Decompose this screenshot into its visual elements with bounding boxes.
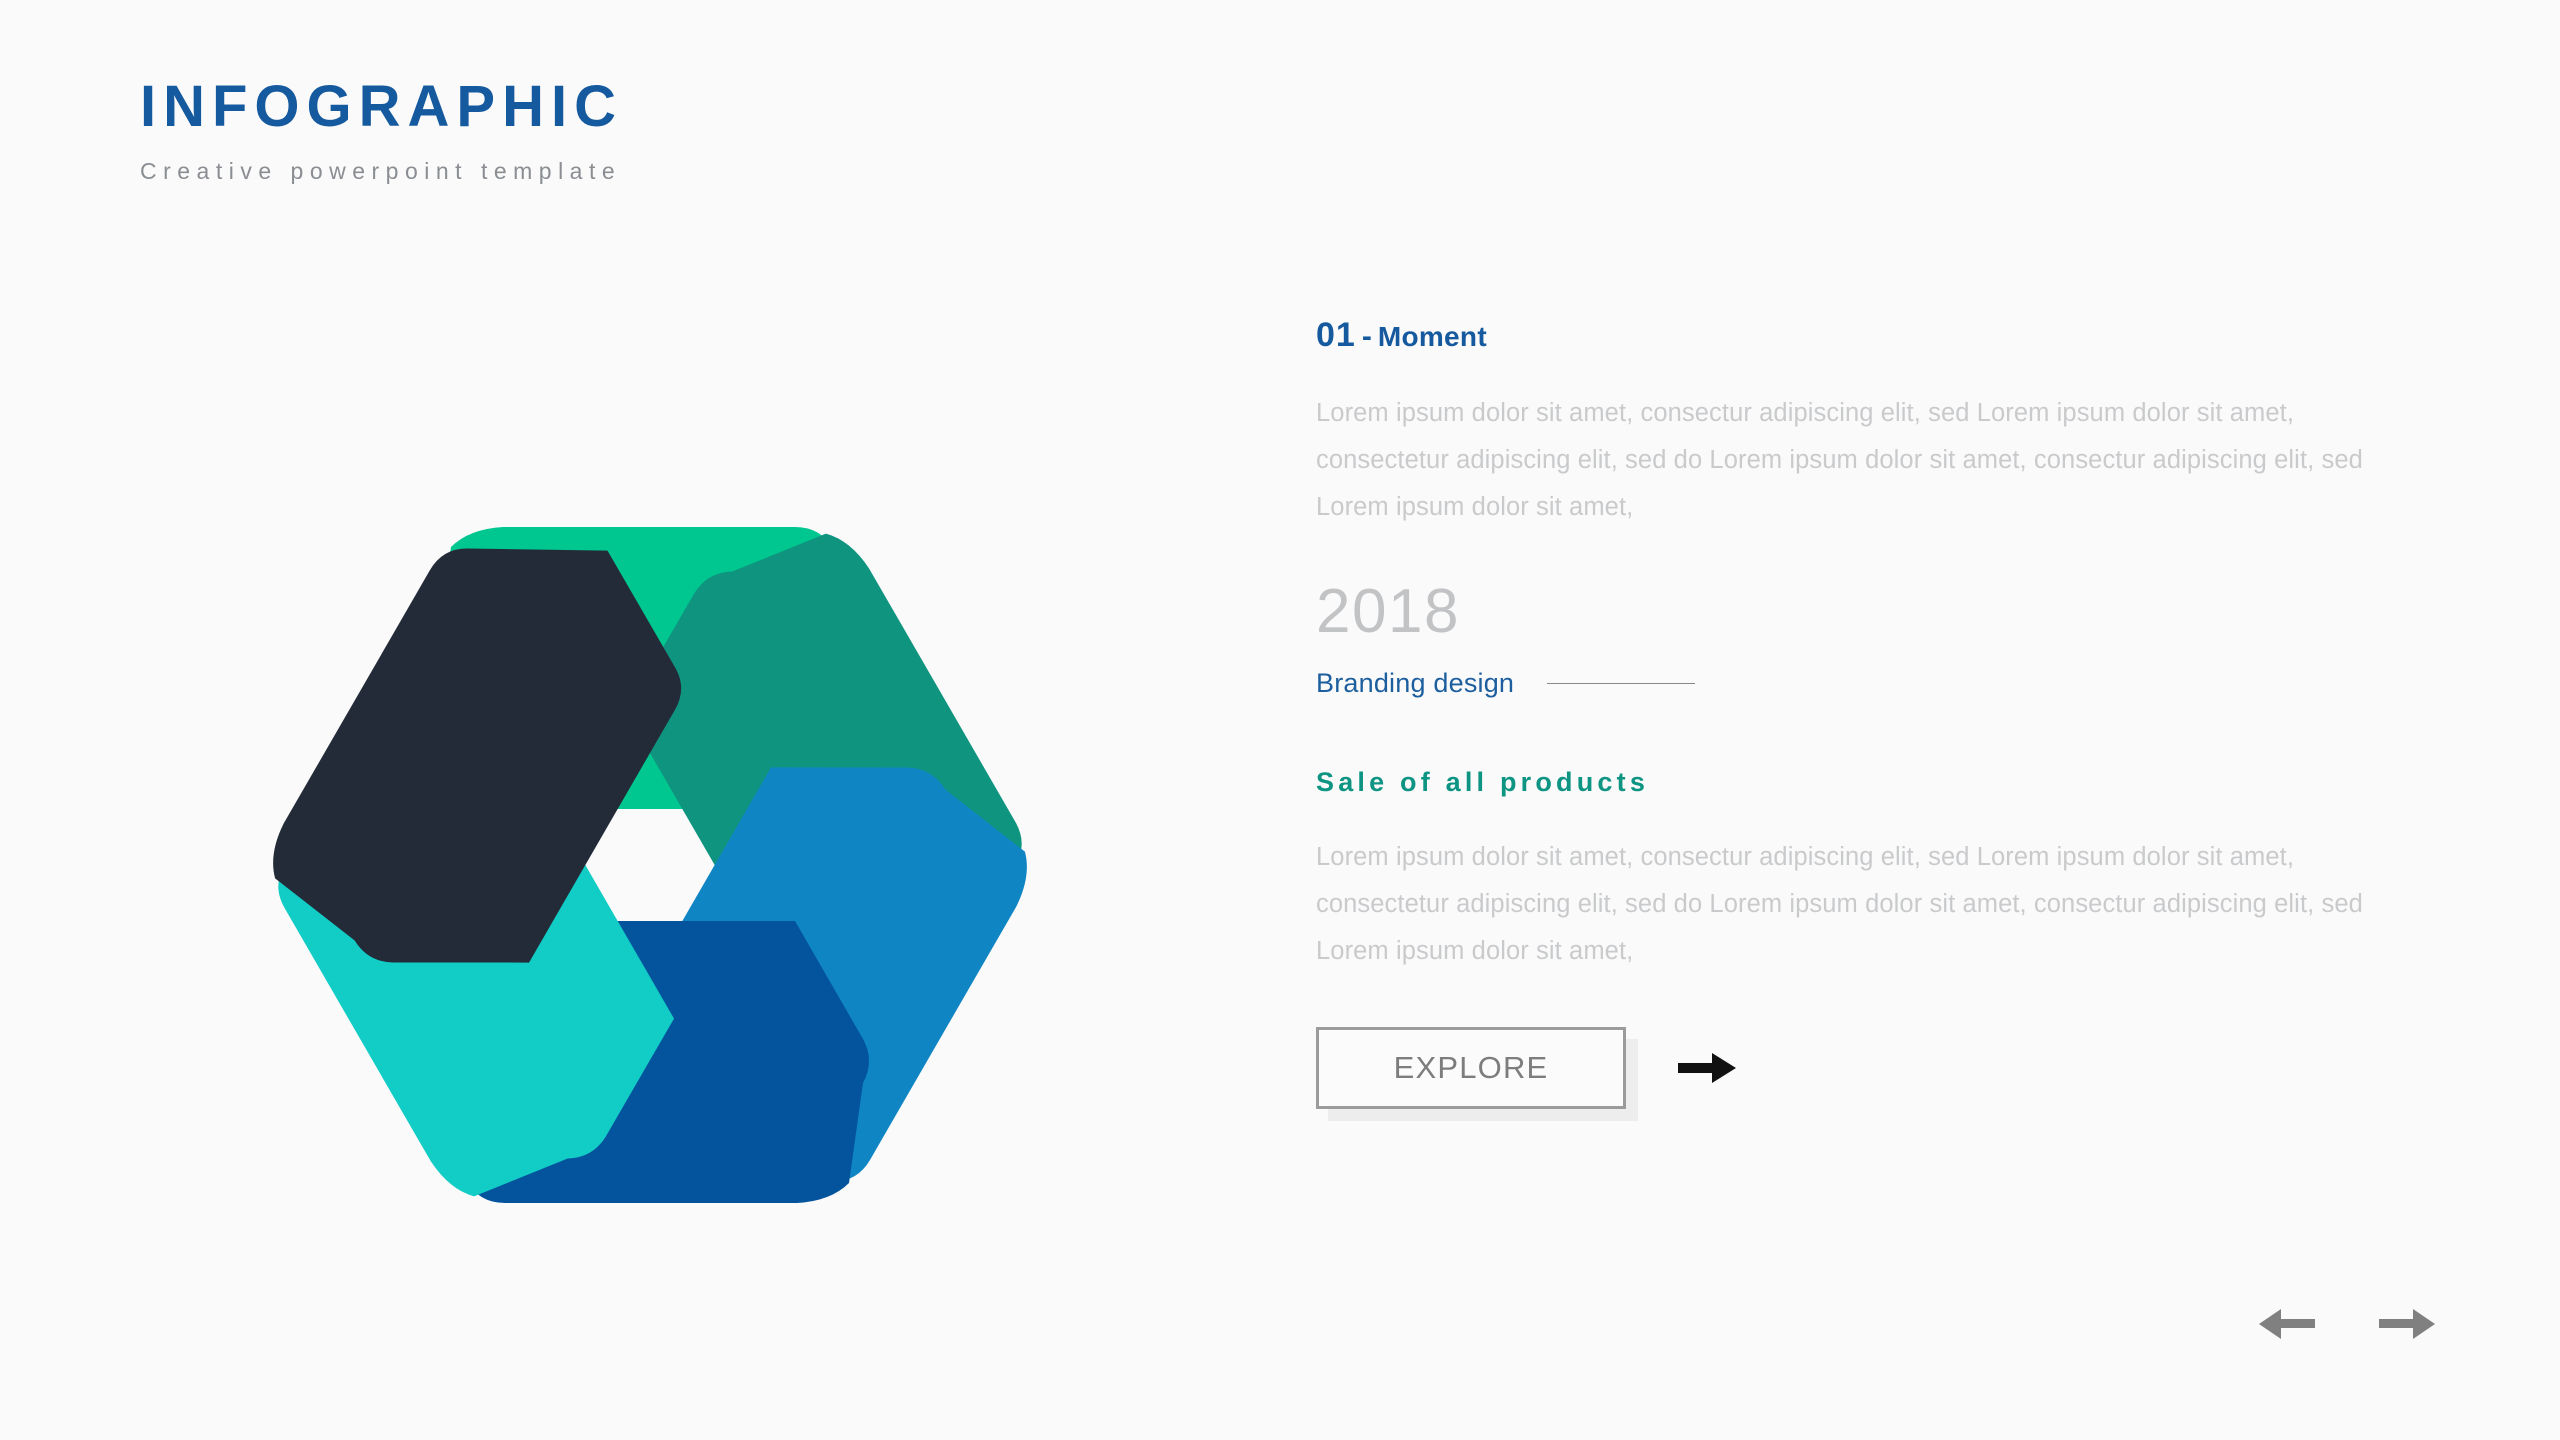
- content-column: 01-Moment Lorem ipsum dolor sit amet, co…: [1316, 318, 2426, 1109]
- branding-row: Branding design: [1316, 668, 2426, 699]
- year-value: 2018: [1316, 581, 2426, 643]
- arrow-right-icon[interactable]: [2379, 1308, 2435, 1340]
- slide-navigation: [2259, 1308, 2435, 1340]
- sale-heading: Sale of all products: [1316, 767, 2426, 798]
- page-title: INFOGRAPHIC: [140, 78, 623, 136]
- step-label: Moment: [1378, 321, 1487, 352]
- explore-button[interactable]: EXPLORE: [1316, 1027, 1626, 1109]
- arrow-right-icon[interactable]: [1678, 1051, 1736, 1085]
- explore-button-wrap: EXPLORE: [1316, 1027, 1626, 1109]
- paragraph-two: Lorem ipsum dolor sit amet, consectur ad…: [1316, 834, 2401, 975]
- hexagon-cycle-diagram: [255, 495, 1045, 1235]
- branding-divider: [1547, 683, 1695, 684]
- page-header: INFOGRAPHIC Creative powerpoint template: [140, 78, 623, 185]
- cta-row: EXPLORE: [1316, 1027, 2426, 1109]
- branding-label: Branding design: [1316, 668, 1514, 699]
- step-heading: 01-Moment: [1316, 318, 2426, 352]
- step-number: 01: [1316, 316, 1356, 354]
- year-block: 2018 Branding design: [1316, 581, 2426, 699]
- arrow-left-icon[interactable]: [2259, 1308, 2315, 1340]
- step-dash: -: [1356, 320, 1378, 353]
- paragraph-one: Lorem ipsum dolor sit amet, consectur ad…: [1316, 390, 2401, 531]
- page-subtitle: Creative powerpoint template: [140, 158, 623, 185]
